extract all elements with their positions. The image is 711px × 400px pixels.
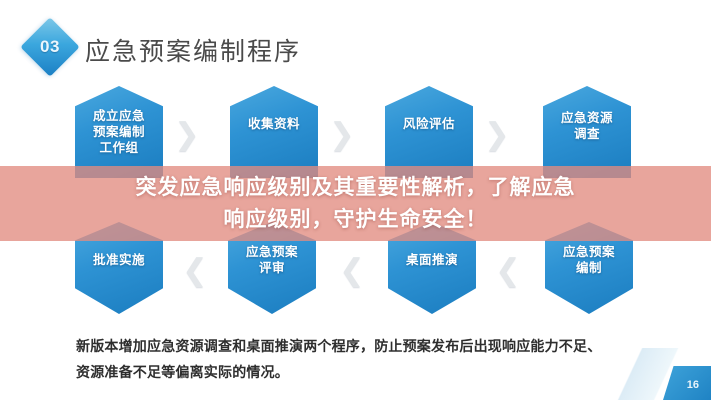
flow-node-top-3[interactable]: 风险评估 <box>385 86 473 178</box>
flow-arrow-top-3-icon: ❯ <box>482 118 512 152</box>
flow-node-top-3-label: 风险评估 <box>385 116 473 132</box>
flow-node-bottom-4-label: 批准实施 <box>75 252 163 268</box>
overlay-banner-text: 突发应急响应级别及其重要性解析，了解应急 响应级别，守护生命安全！ <box>0 166 711 241</box>
flow-arrow-top-1-icon: ❯ <box>172 118 202 152</box>
flow-arrow-bottom-3-icon: ❮ <box>180 254 210 288</box>
overlay-line-2: 响应级别，守护生命安全！ <box>224 204 488 236</box>
slide-header: 03 应急预案编制程序 <box>0 0 711 86</box>
flow-node-top-2[interactable]: 收集资料 <box>230 86 318 178</box>
flow-arrow-bottom-1-icon: ❮ <box>493 254 523 288</box>
flow-node-top-2-label: 收集资料 <box>230 116 318 132</box>
flow-node-top-1[interactable]: 成立应急预案编制工作组 <box>75 86 163 178</box>
overlay-line-1: 突发应急响应级别及其重要性解析，了解应急 <box>136 172 576 204</box>
flow-node-top-4[interactable]: 应急资源调查 <box>543 86 631 178</box>
flow-node-bottom-3-label: 应急预案评审 <box>228 244 316 276</box>
page-title: 应急预案编制程序 <box>85 32 301 68</box>
flow-arrow-top-2-icon: ❯ <box>327 118 357 152</box>
flow-arrow-bottom-2-icon: ❮ <box>337 254 367 288</box>
page-number-label: 16 <box>687 379 699 391</box>
section-number-label: 03 <box>29 26 71 68</box>
flow-node-top-4-label: 应急资源调查 <box>543 110 631 142</box>
caption-text: 新版本增加应急资源调查和桌面推演两个程序，防止预案发布后出现响应能力不足、 资源… <box>76 333 656 385</box>
flow-node-bottom-2-label: 桌面推演 <box>388 252 476 268</box>
flow-node-bottom-1-label: 应急预案编制 <box>545 244 633 276</box>
flow-node-top-1-label: 成立应急预案编制工作组 <box>75 108 163 156</box>
slide-canvas: 03 应急预案编制程序 成立应急预案编制工作组 ❯ 收集资料 ❯ 风险评估 ❯ … <box>0 0 711 400</box>
caption-line-1: 新版本增加应急资源调查和桌面推演两个程序，防止预案发布后出现响应能力不足、 <box>76 333 656 359</box>
caption-line-2: 资源准备不足等偏离实际的情况。 <box>76 359 656 385</box>
